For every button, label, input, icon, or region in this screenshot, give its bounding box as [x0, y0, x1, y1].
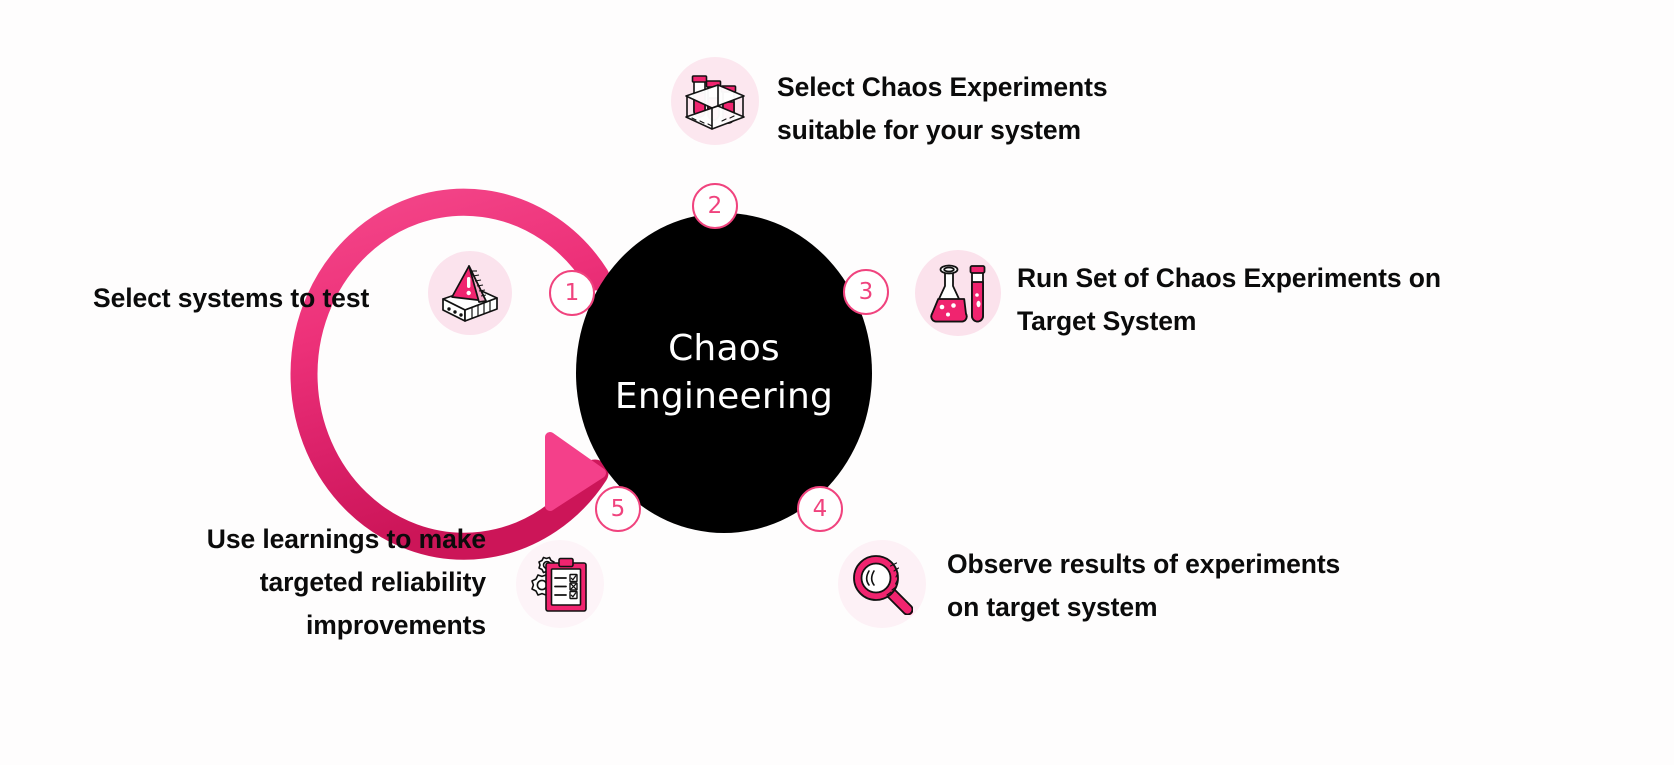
- step-2-label: Select Chaos Experiments suitable for yo…: [777, 66, 1197, 152]
- clipboard-checklist-gears-icon: [528, 554, 592, 614]
- flask-and-test-tube-icon: [928, 262, 988, 324]
- step-badge-3[interactable]: 3: [843, 269, 889, 315]
- step-5-label: Use learnings to make targeted reliabili…: [150, 518, 486, 647]
- step-4-label: Observe results of experiments on target…: [947, 543, 1417, 629]
- hub-label: Chaos Engineering: [576, 325, 872, 420]
- step-badge-1[interactable]: 1: [549, 270, 595, 316]
- step-4-icon-disc: [838, 540, 926, 628]
- server-warning-icon: [439, 263, 501, 323]
- step-1-icon-disc: [428, 251, 512, 335]
- step-3-label: Run Set of Chaos Experiments on Target S…: [1017, 257, 1557, 343]
- step-1-label: Select systems to test: [93, 277, 413, 320]
- test-tube-rack-icon: [682, 71, 748, 131]
- step-3-icon-disc: [915, 250, 1001, 336]
- step-badge-4[interactable]: 4: [797, 486, 843, 532]
- hub-circle: Chaos Engineering: [576, 213, 872, 533]
- step-badge-2[interactable]: 2: [692, 183, 738, 229]
- step-2-icon-disc: [671, 57, 759, 145]
- chaos-engineering-diagram: Chaos Engineering 1 2 3 4 5: [0, 0, 1674, 765]
- magnifying-glass-icon: [851, 553, 913, 615]
- step-badge-5[interactable]: 5: [595, 486, 641, 532]
- step-5-icon-disc: [516, 540, 604, 628]
